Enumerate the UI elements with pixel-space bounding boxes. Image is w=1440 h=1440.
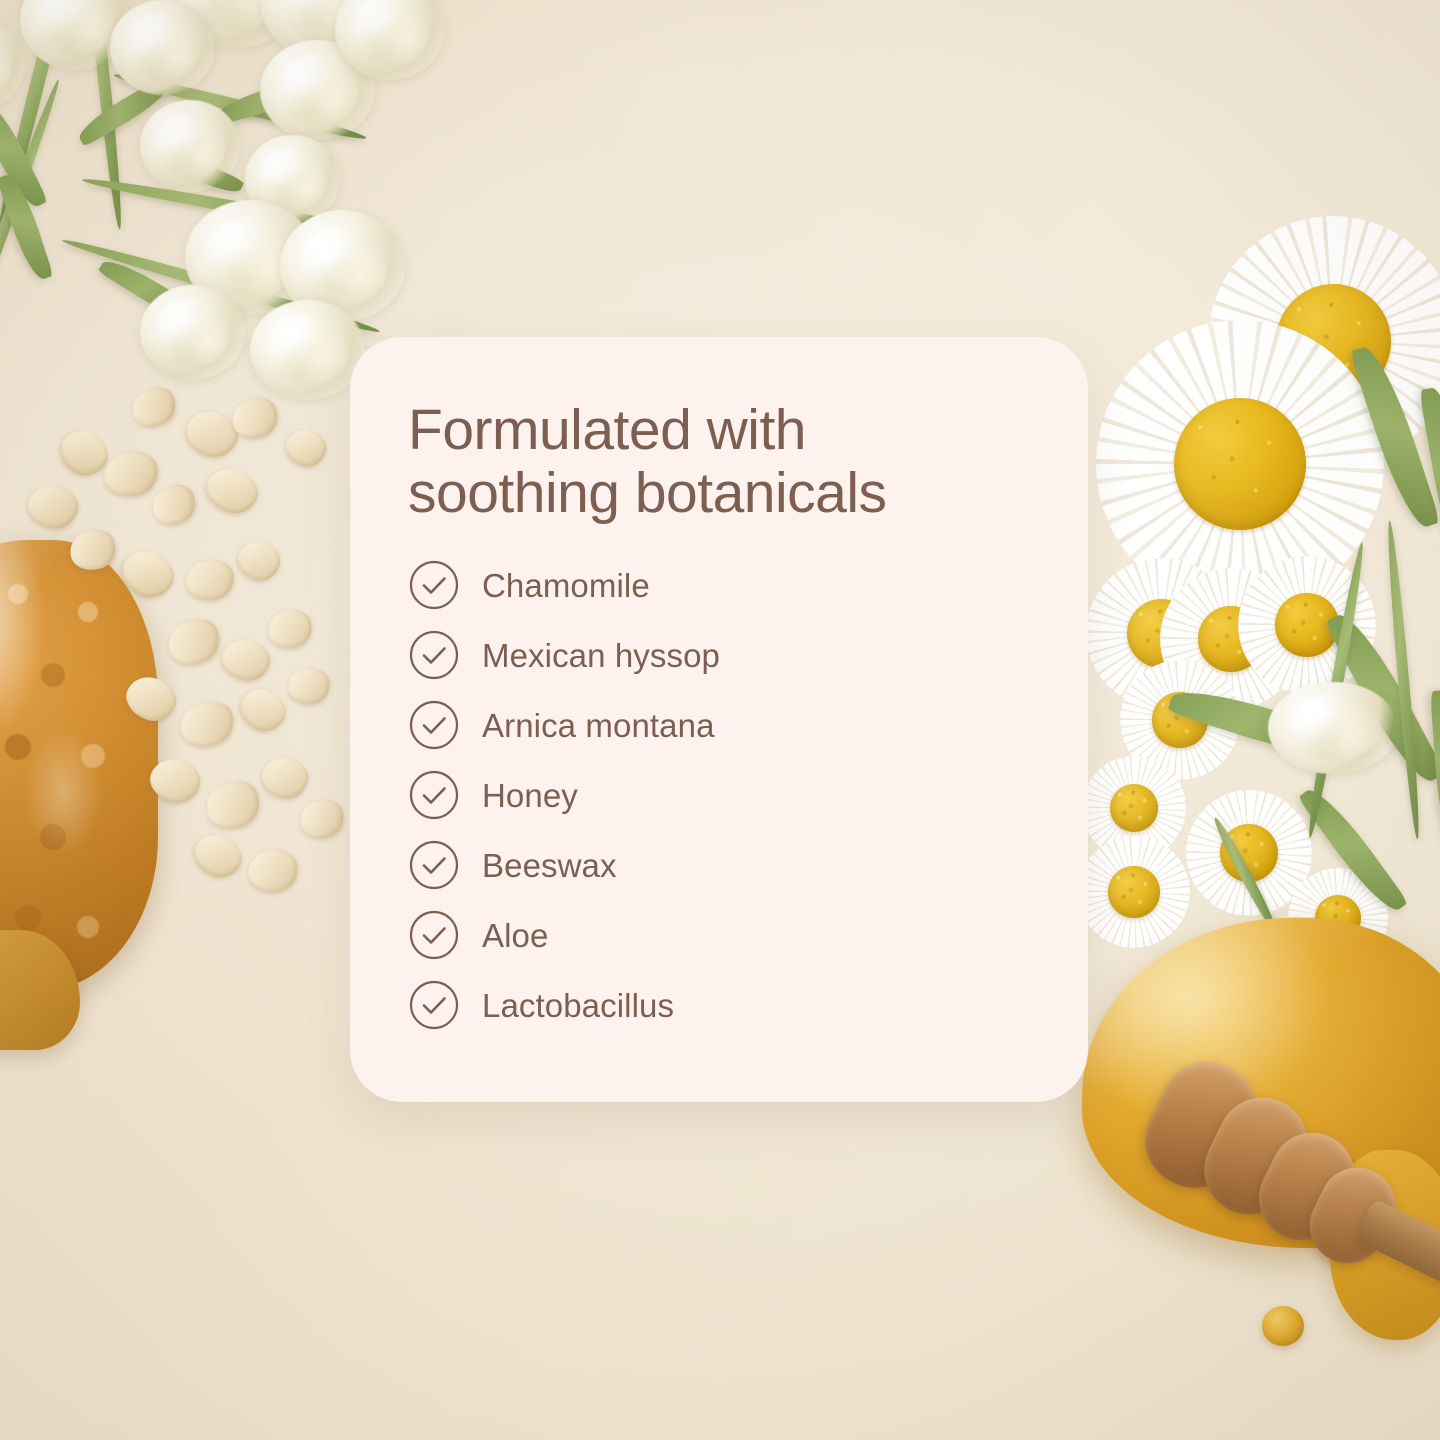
page-title-line-1: Formulated with [408,398,806,462]
ingredient-label: Mexican hyssop [482,639,720,672]
marketing-graphic: Formulated with soothing botanicals Cham… [0,0,1440,1440]
page-title-line-2: soothing botanicals [408,461,887,525]
list-item: Arnica montana [408,690,1030,760]
check-circle-icon [408,839,460,891]
honeycomb-gloss [0,540,158,990]
ingredient-label: Honey [482,779,578,812]
check-circle-icon [408,629,460,681]
list-item: Aloe [408,900,1030,970]
daisy-center [1174,398,1306,530]
list-item: Mexican hyssop [408,620,1030,690]
ingredient-label: Chamomile [482,569,650,602]
ingredient-list: Chamomile Mexican hyssop Arnica montana [408,550,1030,1040]
check-circle-icon [408,699,460,751]
list-item: Chamomile [408,550,1030,620]
ingredients-card: Formulated with soothing botanicals Cham… [350,337,1088,1102]
page-title: Formulated with soothing botanicals [408,399,1030,524]
list-item: Lactobacillus [408,970,1030,1040]
ingredient-label: Aloe [482,919,548,952]
check-circle-icon [408,769,460,821]
ingredient-label: Beeswax [482,849,617,882]
check-circle-icon [408,979,460,1031]
chamomile-center [1108,866,1160,918]
ingredient-label: Lactobacillus [482,989,674,1022]
honeycomb-slab [0,540,158,990]
list-item: Beeswax [408,830,1030,900]
check-circle-icon [408,559,460,611]
honey-droplet [1262,1306,1304,1346]
ingredient-label: Arnica montana [482,709,715,742]
check-circle-icon [408,909,460,961]
list-item: Honey [408,760,1030,830]
chamomile-center [1110,784,1158,832]
